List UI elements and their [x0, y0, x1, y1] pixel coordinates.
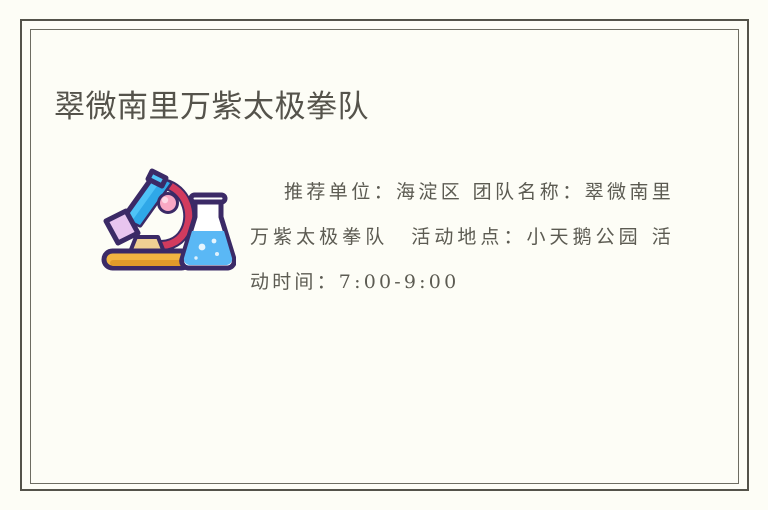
activity-details-paragraph: 推荐单位：海淀区 团队名称：翠微南里万紫太极拳队 活动地点：小天鹅公园 活动时间… [250, 170, 674, 305]
microscope-flask-icon [96, 159, 236, 279]
document-page: 翠微南里万紫太极拳队 [0, 0, 768, 510]
page-title: 翠微南里万紫太极拳队 [54, 87, 369, 127]
page-content: 翠微南里万紫太极拳队 [30, 29, 739, 484]
